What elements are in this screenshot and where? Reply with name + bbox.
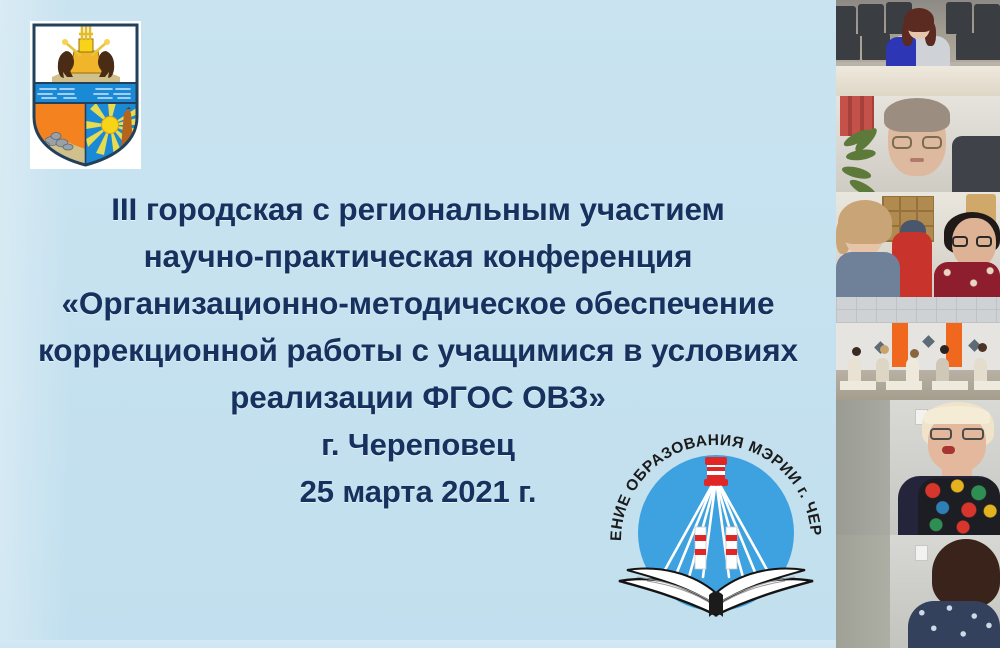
participant-tile-3[interactable]: Две участницы в библиотеке: [836, 192, 1000, 297]
participant-tile-2-scene: [836, 96, 1000, 192]
title-line-3: «Организационно-методическое обеспечение: [0, 280, 836, 327]
screenshot-root: III городская с региональным участием на…: [0, 0, 1000, 648]
participant-tile-4[interactable]: Класс с участниками: [836, 297, 1000, 400]
title-line-2: научно-практическая конференция: [0, 233, 836, 280]
participant-tile-6[interactable]: Участница за столом: [836, 535, 1000, 648]
coat-of-arms-icon: [30, 21, 141, 169]
participant-tile-2[interactable]: Участница в очках: [836, 96, 1000, 192]
participant-tile-5-scene: [836, 400, 1000, 535]
participant-tile-1-scene: [836, 0, 1000, 96]
title-line-4: коррекционной работы с учащимися в услов…: [0, 327, 836, 374]
slide-bottom-strip: [0, 640, 836, 648]
presentation-slide: III городская с региональным участием на…: [0, 0, 836, 648]
title-line-1: III городская с региональным участием: [0, 186, 836, 233]
participant-tile-1[interactable]: Ведущая за столом в зале: [836, 0, 1000, 96]
participant-tile-4-scene: [836, 297, 1000, 400]
video-participants-strip: Ведущая за столом в зале Участниц: [836, 0, 1000, 648]
participant-tile-6-scene: [836, 535, 1000, 648]
education-department-logo: УПРАВЛЕНИЕ ОБРАЗОВАНИЯ МЭРИИ г. ЧЕРЕПОВЦ…: [597, 409, 835, 648]
participant-tile-3-scene: [836, 192, 1000, 297]
participant-tile-5[interactable]: Участница со светлыми волосами: [836, 400, 1000, 535]
